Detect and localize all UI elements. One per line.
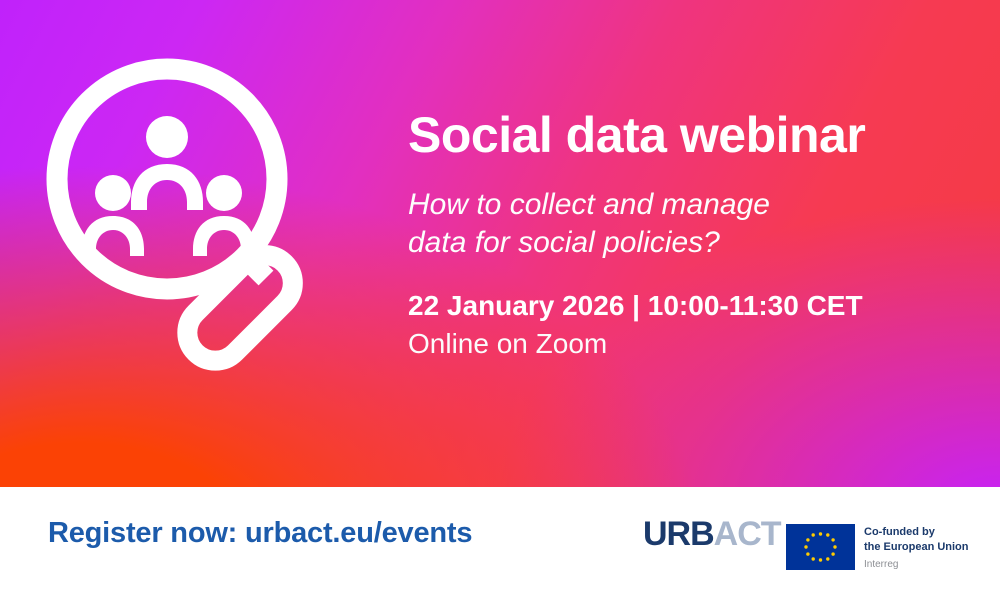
event-datetime: 22 January 2026 | 10:00-11:30 CET	[408, 290, 968, 322]
eu-cofunding-lockup: Co-funded by the European Union Interreg	[786, 524, 969, 572]
urbact-logo-dark: URB	[643, 515, 714, 553]
eu-text-line-2: the European Union	[864, 540, 969, 555]
subtitle-line-2: data for social policies?	[408, 224, 968, 262]
register-link[interactable]: Register now: urbact.eu/events	[48, 517, 472, 550]
subtitle-line-1: How to collect and manage	[408, 186, 968, 224]
interreg-label: Interreg	[864, 557, 969, 572]
magnifying-glass-people-icon	[34, 46, 364, 386]
banner-copy: Social data webinar How to collect and m…	[408, 108, 968, 360]
eu-text-line-1: Co-funded by	[864, 525, 969, 540]
european-union-flag-icon	[786, 524, 855, 570]
banner-subtitle: How to collect and manage data for socia…	[408, 186, 968, 262]
urbact-logo-light: ACT	[714, 515, 781, 553]
webinar-promo-banner: Social data webinar How to collect and m…	[0, 0, 1000, 600]
page-title: Social data webinar	[408, 108, 968, 162]
event-venue: Online on Zoom	[408, 328, 968, 360]
urbact-logo[interactable]: URBACT	[643, 517, 781, 551]
eu-cofunding-text: Co-funded by the European Union Interreg	[864, 524, 969, 572]
